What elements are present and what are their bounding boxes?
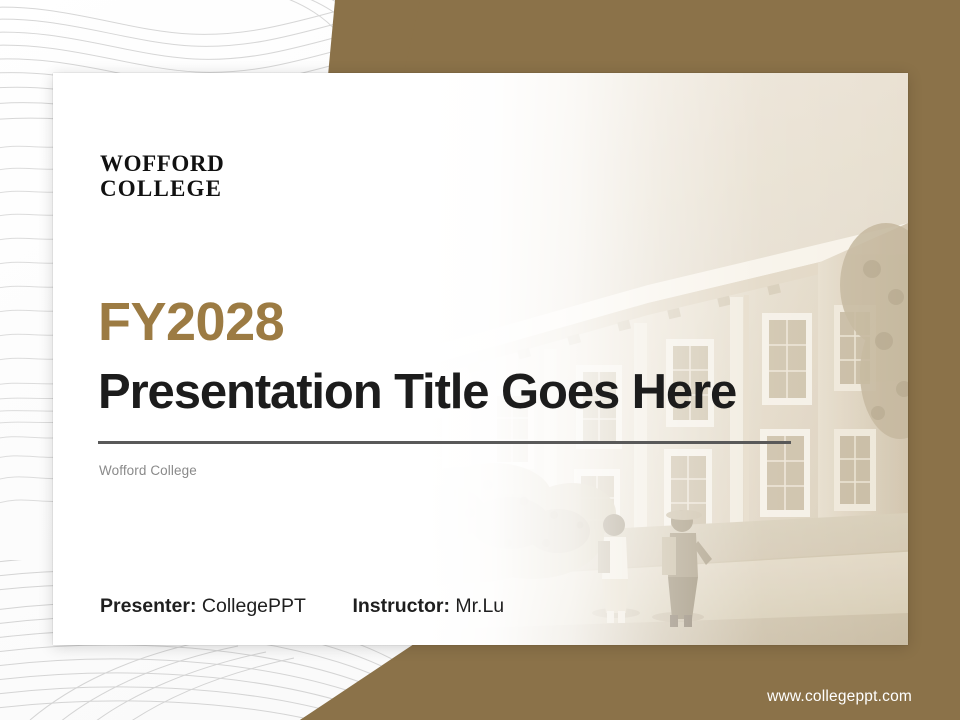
fiscal-year-heading: FY2028 (98, 295, 284, 349)
instructor-label: Instructor: (352, 595, 455, 617)
title-divider (98, 441, 791, 444)
logo-line-1: WOFFORD (100, 151, 224, 176)
website-url: www.collegeppt.com (767, 688, 912, 706)
slide-card: WOFFORD COLLEGE FY2028 Presentation Titl… (53, 73, 908, 645)
instructor-value: Mr.Lu (455, 595, 504, 617)
presenter-value: CollegePPT (202, 595, 306, 617)
presenter-label: Presenter: (100, 595, 202, 617)
logo-line-2: COLLEGE (100, 176, 224, 201)
slide-content: WOFFORD COLLEGE FY2028 Presentation Titl… (53, 73, 908, 645)
page-title: Presentation Title Goes Here (98, 368, 736, 417)
credits-line: Presenter: CollegePPT Instructor: Mr.Lu (100, 595, 504, 618)
wofford-college-logo: WOFFORD COLLEGE (100, 151, 224, 201)
slide-subtitle: Wofford College (99, 463, 197, 478)
presentation-slide: WOFFORD COLLEGE FY2028 Presentation Titl… (0, 0, 960, 720)
